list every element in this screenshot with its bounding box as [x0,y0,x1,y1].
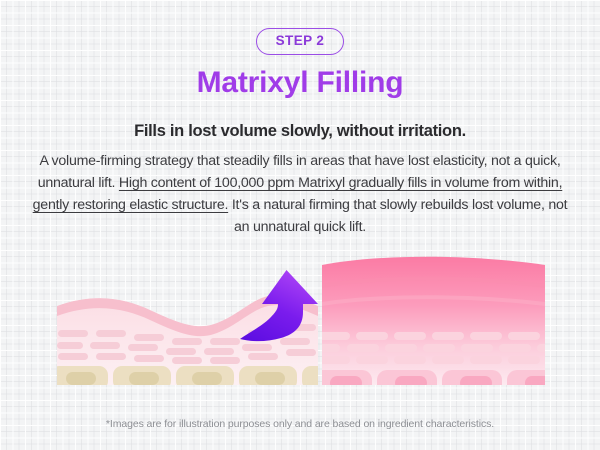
step-badge-row: STEP 2 [0,28,600,55]
skin-cross-section-illustration [0,252,600,397]
headline: Fills in lost volume slowly, without irr… [0,122,600,141]
body-copy: A volume-firming strategy that steadily … [28,150,572,238]
step-badge: STEP 2 [256,28,345,55]
page-title: Matrixyl Filling [0,66,600,100]
body-tail: It's a natural firming that slowly rebui… [228,197,567,235]
footnote: *Images are for illustration purposes on… [0,418,600,430]
right-skin-panel [312,257,570,396]
slide-canvas: STEP 2 Matrixyl Filling Fills in lost vo… [0,0,600,450]
